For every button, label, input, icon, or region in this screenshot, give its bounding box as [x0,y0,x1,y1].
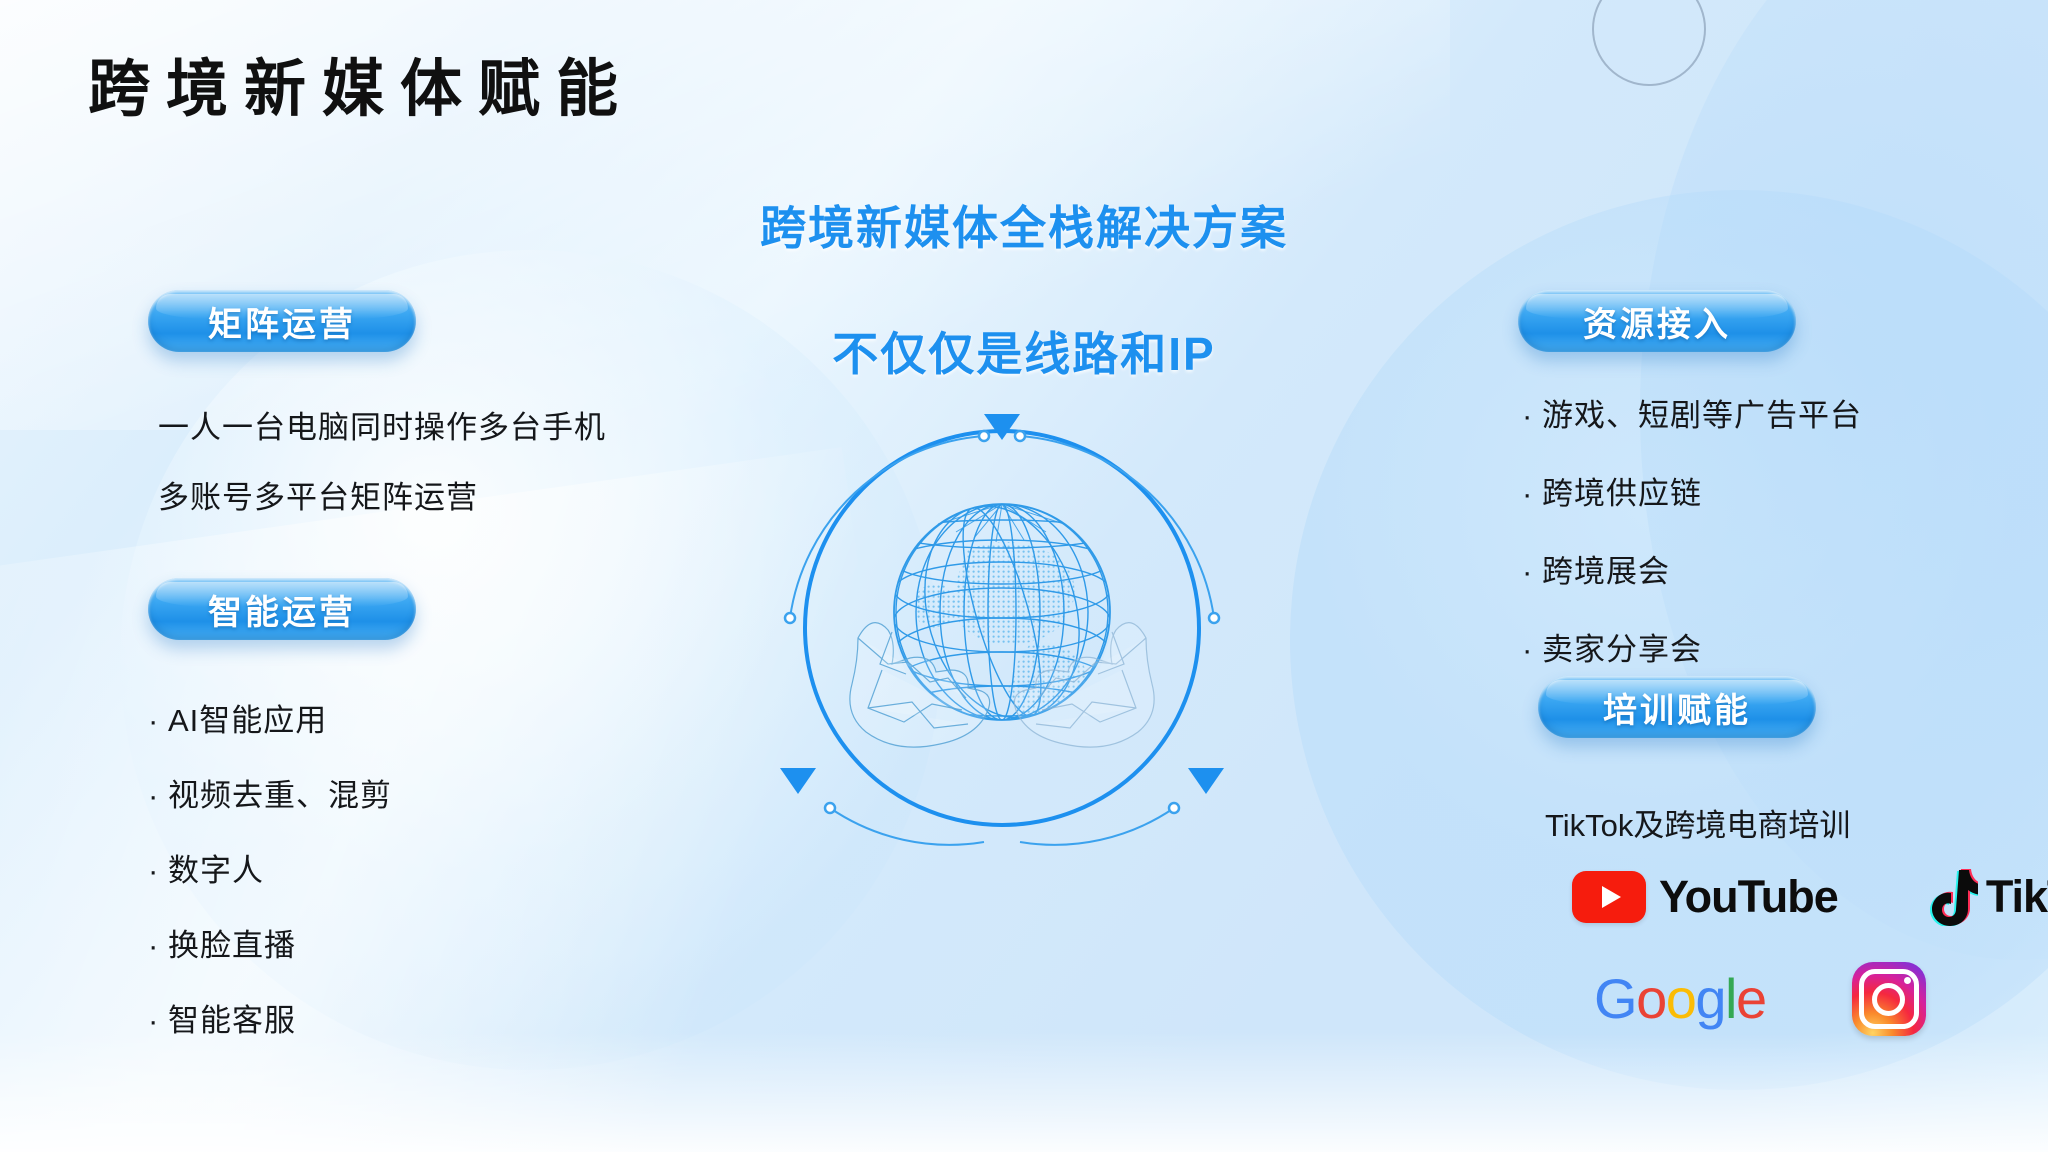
bullet-icon: · [148,1003,168,1039]
list-item: · 智能客服 [148,995,392,1040]
list-item: · 游戏、短剧等广告平台 [1522,390,1862,435]
google-letter-l: l [1725,967,1736,1030]
list-item-label: AI智能应用 [168,695,327,740]
list-item-label: 卖家分享会 [1542,624,1702,669]
list-item: · 跨境展会 [1522,546,1862,591]
pill-training-empowerment-label: 培训赋能 [1603,683,1751,732]
list-item: · 数字人 [148,845,392,890]
instagram-flash-dot-icon [1904,977,1911,984]
bullet-icon: · [148,928,168,964]
list-item: · 换脸直播 [148,920,392,965]
bullet-icon: · [148,703,168,739]
globe-in-hands-icon [772,400,1232,860]
right-bullet-list: · 游戏、短剧等广告平台 · 跨境供应链 · 跨境展会 · 卖家分享会 [1522,390,1862,702]
google-letter-o2: o [1666,967,1696,1030]
tiktok-wordmark: TikTok [1986,871,2048,923]
tiktok-logo[interactable]: TikTok [1926,868,2048,926]
pill-matrix-operations[interactable]: 矩阵运营 [148,290,416,352]
pill-training-empowerment[interactable]: 培训赋能 [1538,676,1816,738]
logo-row-bottom: Google [1594,962,1926,1036]
page-title: 跨境新媒体赋能 [88,38,634,128]
bullet-icon: · [148,853,168,889]
list-item-label: 换脸直播 [168,920,296,965]
list-item-label: 跨境展会 [1542,546,1670,591]
youtube-play-icon [1572,871,1646,923]
list-item-label: 视频去重、混剪 [168,770,392,815]
decorative-circle-icon [1592,0,1706,86]
list-item-label: 跨境供应链 [1542,468,1702,513]
list-item: · AI智能应用 [148,695,392,740]
slide-canvas: 跨境新媒体赋能 跨境新媒体全栈解决方案 不仅仅是线路和IP [0,0,2048,1152]
tiktok-note-icon [1926,868,1978,926]
left-text-line-2: 多账号多平台矩阵运营 [158,472,478,517]
pill-resource-access-label: 资源接入 [1583,297,1731,346]
left-text-line-1: 一人一台电脑同时操作多台手机 [158,402,606,447]
list-item-label: 数字人 [168,845,264,890]
google-letter-g2: g [1695,967,1725,1030]
youtube-logo[interactable]: YouTube [1572,871,1838,923]
play-triangle-icon [1602,886,1621,908]
bullet-icon: · [1522,398,1542,434]
list-item-label: 游戏、短剧等广告平台 [1542,390,1862,435]
pill-smart-operations-label: 智能运营 [208,585,356,634]
google-logo[interactable]: Google [1594,971,1766,1027]
training-description: TikTok及跨境电商培训 [1545,800,1850,845]
google-letter-o1: o [1636,967,1666,1030]
pill-resource-access[interactable]: 资源接入 [1518,290,1796,352]
bullet-icon: · [1522,632,1542,668]
pill-smart-operations[interactable]: 智能运营 [148,578,416,640]
instagram-lens-icon [1872,983,1905,1016]
google-letter-e: e [1736,967,1766,1030]
list-item: · 视频去重、混剪 [148,770,392,815]
list-item: · 跨境供应链 [1522,468,1862,513]
pill-matrix-operations-label: 矩阵运营 [208,297,356,346]
center-heading-primary: 跨境新媒体全栈解决方案 [0,192,2048,258]
google-letter-g: G [1594,967,1636,1030]
bullet-icon: · [1522,554,1542,590]
bullet-icon: · [148,778,168,814]
logo-row-top: YouTube TikTok [1572,868,2048,926]
youtube-wordmark: YouTube [1659,871,1838,923]
instagram-logo[interactable] [1852,962,1926,1036]
left-bullet-list: · AI智能应用 · 视频去重、混剪 · 数字人 · 换脸直播 · 智能客服 [148,695,392,1070]
list-item: · 卖家分享会 [1522,624,1862,669]
list-item-label: 智能客服 [168,995,296,1040]
bullet-icon: · [1522,476,1542,512]
